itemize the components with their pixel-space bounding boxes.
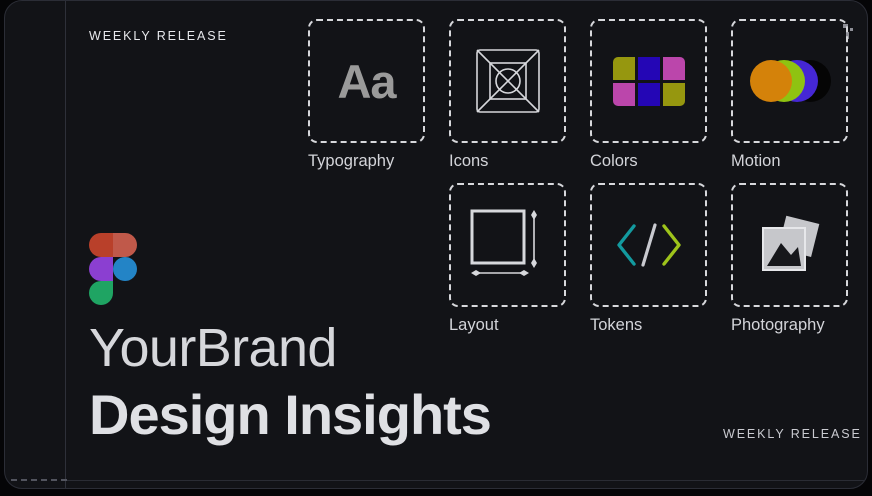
grid-label-colors: Colors [590, 152, 707, 171]
tile-layout[interactable] [449, 183, 566, 307]
grid-cell-motion[interactable]: Motion [731, 19, 848, 171]
grid-cell-colors[interactable]: Colors [590, 19, 707, 171]
grid-label-motion: Motion [731, 152, 848, 171]
grid-label-photography: Photography [731, 316, 848, 335]
grid-cell-tokens[interactable]: Tokens [590, 183, 707, 335]
figma-logo-red-right [113, 233, 137, 257]
swatch-1 [638, 57, 660, 80]
swatch-4 [638, 83, 660, 106]
motion-dot-0 [750, 60, 792, 102]
tile-colors[interactable] [590, 19, 707, 143]
grid-label-typography: Typography [308, 152, 425, 171]
swatch-3 [613, 83, 635, 106]
brand-name: YourBrand [89, 319, 337, 377]
swatch-2 [663, 57, 685, 80]
tile-typography[interactable]: Aa [308, 19, 425, 143]
photo-stack-icon [755, 213, 825, 277]
page-title: Design Insights [89, 385, 491, 445]
tile-tokens[interactable] [590, 183, 707, 307]
swatch-0 [613, 57, 635, 80]
vertical-guide-line [65, 1, 66, 489]
brand-card: WEEKLY RELEASE Aa Typography [4, 0, 868, 489]
figma-logo-green [89, 281, 113, 305]
tile-motion[interactable] [731, 19, 848, 143]
horizontal-guide-line [65, 480, 868, 481]
grid-cell-photography[interactable]: Photography [731, 183, 848, 335]
grid-cell-icons[interactable]: Icons [449, 19, 566, 171]
eyebrow-label-bottom: WEEKLY RELEASE [723, 427, 862, 441]
tile-photography[interactable] [731, 183, 848, 307]
tile-icons[interactable] [449, 19, 566, 143]
grid-cell-typography[interactable]: Aa Typography [308, 19, 425, 171]
grid-label-tokens: Tokens [590, 316, 707, 335]
horizontal-guide-dash [11, 479, 67, 481]
color-swatches-icon [613, 57, 685, 106]
figma-logo [89, 233, 137, 305]
motion-circles-icon [750, 60, 830, 102]
grid-label-layout: Layout [449, 316, 566, 335]
figma-logo-red-left [89, 233, 113, 257]
swatch-5 [663, 83, 685, 106]
eyebrow-label-top: WEEKLY RELEASE [89, 29, 228, 43]
artifact-speck [850, 28, 853, 31]
typography-aa-icon: Aa [337, 58, 395, 105]
figma-logo-purple [89, 257, 113, 281]
icons-frame-icon [475, 48, 541, 114]
grid-cell-layout[interactable]: Layout [449, 183, 566, 335]
figma-logo-blue [113, 257, 137, 281]
screenshot-stage: WEEKLY RELEASE Aa Typography [0, 0, 872, 496]
code-brackets-icon [613, 220, 685, 270]
layout-dimensions-icon [468, 207, 548, 283]
grid-label-icons: Icons [449, 152, 493, 171]
